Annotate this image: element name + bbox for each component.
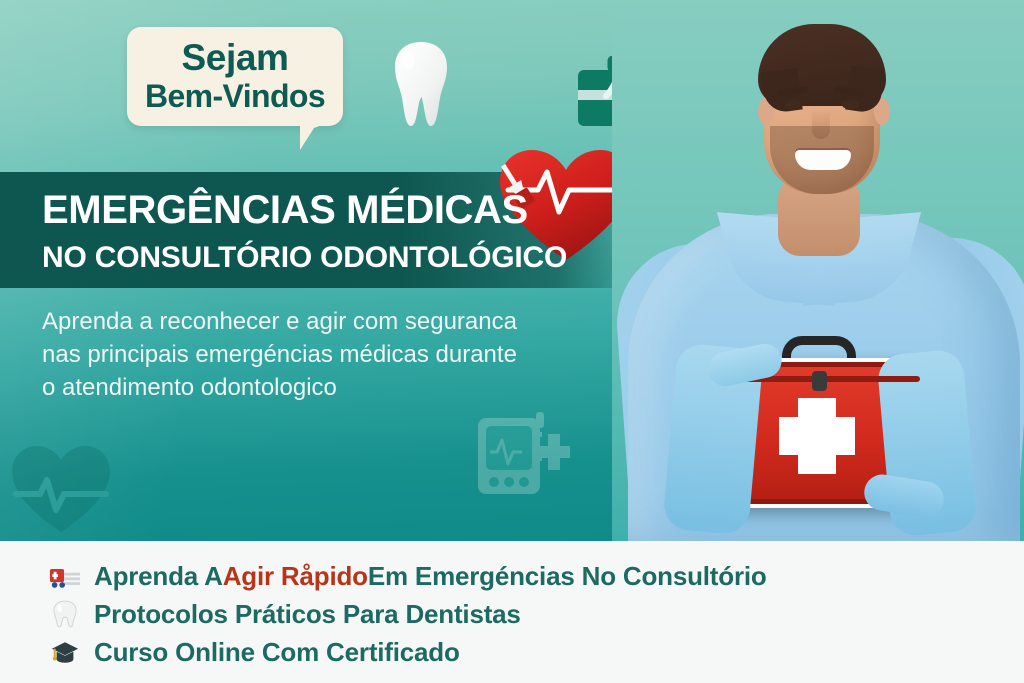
- page-subtitle: NO CONSULTÓRIO ODONTOLÓGICO: [42, 241, 567, 275]
- feature-text-pre: Curso Online Com Certificado: [94, 637, 460, 668]
- welcome-line2: Bem-Vindos: [145, 78, 325, 115]
- list-item: Protocolos Práticos Para Dentistas: [48, 595, 767, 633]
- list-item: Curso Online Com Certificado: [48, 633, 767, 671]
- page-title: EMERGÊNCIAS MÉDICAS: [42, 188, 528, 232]
- features-list: Aprenda A Agir Råpido Em Emergéncias No …: [48, 557, 767, 671]
- feature-text-post: Em Emergéncias No Consultório: [368, 561, 767, 592]
- feature-text-pre: Aprenda A: [94, 561, 223, 592]
- welcome-line1: Sejam: [181, 38, 288, 78]
- course-promo-banner: Sejam Bem-Vindos EMERGÊNCIAS MÉDICAS NO …: [0, 0, 1024, 683]
- ecg-monitor-icon: [474, 408, 570, 500]
- tooth-icon: [392, 40, 450, 128]
- feature-text-highlight: Agir Råpido: [223, 561, 368, 592]
- feature-text-pre: Protocolos Práticos Para Dentistas: [94, 599, 521, 630]
- tooth-icon: [48, 599, 82, 629]
- ambulance-icon: [48, 561, 82, 591]
- description-line-3: o atendimento odontologico: [42, 371, 627, 404]
- list-item: Aprenda A Agir Råpido Em Emergéncias No …: [48, 557, 767, 595]
- description: Aprenda a reconhecer e agir com seguranc…: [42, 305, 627, 404]
- welcome-bubble: Sejam Bem-Vindos: [127, 27, 343, 126]
- bubble-tail: [300, 120, 336, 150]
- heart-watermark-icon: [6, 440, 116, 536]
- description-line-2: nas principais emergéncias médicas duran…: [42, 338, 627, 371]
- graduation-cap-icon: [48, 637, 82, 667]
- description-line-1: Aprenda a reconhecer e agir com seguranc…: [42, 305, 627, 338]
- dentist-photo: [612, 0, 1024, 541]
